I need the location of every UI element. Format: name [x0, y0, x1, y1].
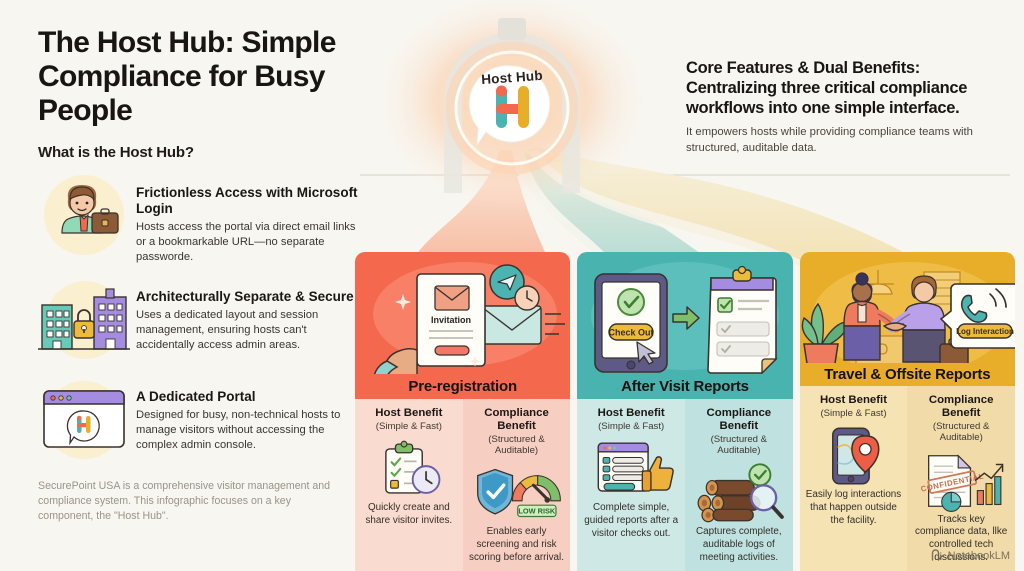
benefit-desc: Complete simple, guided reports after a …: [583, 502, 679, 541]
notebooklm-watermark: NotebookLM: [931, 549, 1010, 562]
benefit-desc: Enables early screening and risk scoring…: [469, 526, 565, 565]
benefit-title: Compliance Benefit: [913, 394, 1009, 420]
check-out-button-label: Check Out: [609, 328, 654, 338]
panel-pre-registration[interactable]: Invitation: [355, 252, 570, 571]
phone-map-pin-icon: [806, 425, 902, 487]
panel-heading: Travel & Offsite Reports: [800, 363, 1015, 386]
feature-item: A Dedicated Portal Designed for busy, no…: [38, 379, 358, 465]
shield-gauge-icon: LOW RISK: [469, 462, 565, 524]
left-footnote: SecurePoint USA is a comprehensive visit…: [38, 479, 338, 524]
panel-illustration: Check Out: [577, 252, 792, 374]
page-title: The Host Hub: Simple Compliance for Busy…: [38, 26, 358, 128]
left-column: The Host Hub: Simple Compliance for Busy…: [38, 26, 358, 534]
benefit-subtitle: (Simple & Fast): [820, 408, 886, 419]
notebooklm-icon: [931, 549, 944, 562]
browser-window-logo-icon: [38, 373, 130, 465]
workflow-panels: Invitation: [355, 252, 1015, 571]
panel-illustration: Log Interaction: [800, 252, 1015, 363]
host-benefit: Host Benefit (Simple & Fast): [355, 399, 463, 571]
feature-desc: Designed for busy, non-technical hosts t…: [136, 408, 358, 453]
feature-title: Frictionless Access with Microsoft Login: [136, 185, 358, 217]
clipboard-clock-icon: [361, 438, 457, 500]
panel-after-visit-reports[interactable]: Check Out: [577, 252, 792, 571]
panel-heading: After Visit Reports: [577, 374, 792, 400]
benefit-desc: Captures complete, auditable logs of mee…: [691, 526, 787, 565]
panel-heading: Pre-registration: [355, 374, 570, 400]
infographic-canvas: Host Hub The Host Hub: Simple Compliance…: [0, 0, 1024, 571]
benefit-subtitle: (Structured & Auditable): [913, 421, 1009, 443]
host-benefit: Host Benefit (Simple & Fast): [800, 386, 908, 571]
host-hub-arch: Host Hub: [412, 8, 612, 198]
invitation-card-label: Invitation: [431, 315, 471, 325]
log-interaction-button-label: Log Interaction: [956, 327, 1014, 336]
right-title: Core Features & Dual Benefits: Centraliz…: [686, 58, 986, 118]
feature-item: Architecturally Separate & Secure Uses a…: [38, 279, 358, 365]
benefit-title: Compliance Benefit: [469, 407, 565, 433]
form-thumbsup-icon: [583, 438, 679, 500]
host-person-briefcase-icon: [38, 169, 130, 261]
benefit-title: Host Benefit: [375, 407, 442, 420]
confidential-document-chart-icon: CONFIDENTIAL: [913, 450, 1009, 512]
host-benefit: Host Benefit (Simple & Fast): [577, 399, 685, 571]
compliance-benefit: Compliance Benefit (Structured & Auditab…: [463, 399, 571, 571]
left-subheading: What is the Host Hub?: [38, 144, 358, 161]
benefit-desc: Easily log interactions that happen outs…: [806, 489, 902, 528]
compliance-benefit: Compliance Benefit (Structured & Auditab…: [685, 399, 793, 571]
benefit-title: Host Benefit: [598, 407, 665, 420]
panel-travel-offsite-reports[interactable]: Log Interaction Travel & Offsite Reports…: [800, 252, 1015, 571]
benefit-desc: Quickly create and share visitor invites…: [361, 502, 457, 528]
benefit-title: Host Benefit: [820, 394, 887, 407]
benefit-subtitle: (Simple & Fast): [376, 421, 442, 432]
compliance-benefit: Compliance Benefit (Structured & Auditab…: [907, 386, 1015, 571]
benefit-subtitle: (Structured & Auditable): [691, 434, 787, 456]
logs-magnifier-check-icon: [691, 462, 787, 524]
panel-illustration: Invitation: [355, 252, 570, 374]
notebooklm-label: NotebookLM: [948, 550, 1010, 562]
right-column: Core Features & Dual Benefits: Centraliz…: [686, 58, 986, 156]
buildings-lock-icon: [38, 273, 130, 365]
right-desc: It empowers hosts while providing compli…: [686, 125, 986, 156]
feature-title: Architecturally Separate & Secure: [136, 289, 358, 305]
feature-desc: Uses a dedicated layout and session mana…: [136, 308, 358, 353]
feature-item: Frictionless Access with Microsoft Login…: [38, 175, 358, 265]
feature-title: A Dedicated Portal: [136, 389, 358, 405]
benefit-subtitle: (Simple & Fast): [598, 421, 664, 432]
benefit-subtitle: (Structured & Auditable): [469, 434, 565, 456]
low-risk-badge: LOW RISK: [518, 507, 556, 516]
feature-desc: Hosts access the portal via direct email…: [136, 220, 358, 265]
benefit-title: Compliance Benefit: [691, 407, 787, 433]
